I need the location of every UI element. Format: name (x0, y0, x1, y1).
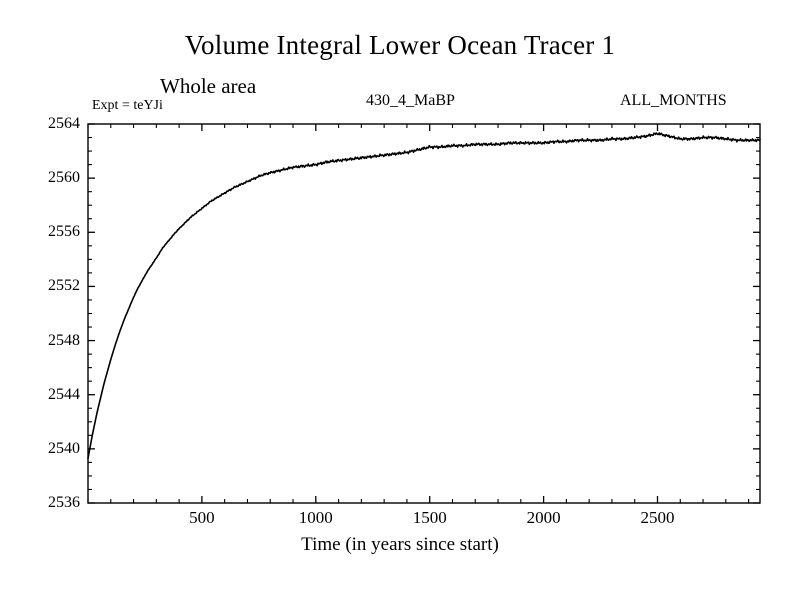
axis-frame (88, 124, 760, 503)
chart-container: Volume Integral Lower Ocean Tracer 1 Who… (0, 0, 800, 600)
plot-area (0, 0, 800, 600)
plot-frame (88, 124, 760, 503)
data-line-series-0 (88, 133, 760, 458)
x-axis-title: Time (in years since start) (0, 535, 800, 554)
data-series-group (88, 133, 760, 458)
tick-marks (88, 124, 760, 503)
